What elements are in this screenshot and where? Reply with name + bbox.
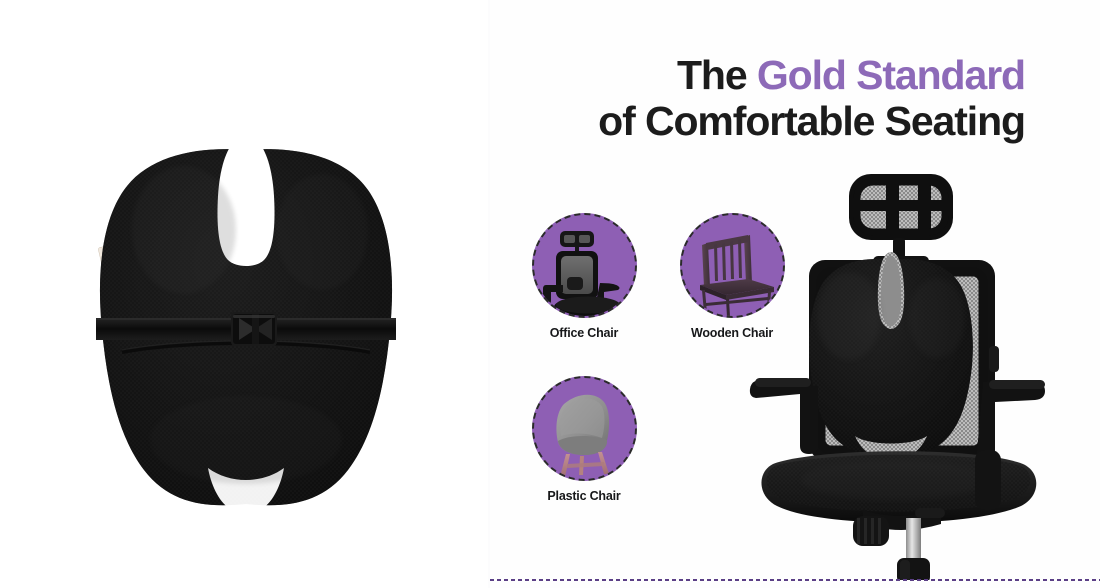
chair-seat xyxy=(761,450,1036,523)
headline-prefix: The xyxy=(677,52,757,98)
height-adjust-knob xyxy=(853,516,889,546)
right-marketing-panel: The Gold Standard of Comfortable Seating xyxy=(490,0,1100,588)
plastic-chair-icon xyxy=(534,378,637,481)
badge-plastic-chair-circle xyxy=(532,376,637,481)
headline-line-1: The Gold Standard xyxy=(490,52,1025,98)
product-banner: DIMILO xyxy=(0,0,1100,588)
badge-office-chair[interactable]: Office Chair xyxy=(528,213,640,340)
badge-office-chair-label: Office Chair xyxy=(528,326,640,340)
strap-buckle xyxy=(231,312,277,346)
badge-plastic-chair[interactable]: Plastic Chair xyxy=(528,376,640,503)
mounted-back-cushion xyxy=(809,252,973,460)
bottom-dashed-rule xyxy=(490,579,1100,581)
left-product-panel: DIMILO xyxy=(0,0,488,588)
headline-line-2: of Comfortable Seating xyxy=(490,98,1025,144)
badge-office-chair-circle xyxy=(532,213,637,318)
seat-cushion-image: DIMILO xyxy=(96,140,396,510)
headline-accent: Gold Standard xyxy=(757,52,1025,98)
page-title: The Gold Standard of Comfortable Seating xyxy=(490,52,1100,145)
badge-plastic-chair-label: Plastic Chair xyxy=(528,489,640,503)
hero-chair-image xyxy=(745,160,1095,580)
chair-headrest xyxy=(849,174,953,266)
office-chair-icon xyxy=(534,215,637,318)
